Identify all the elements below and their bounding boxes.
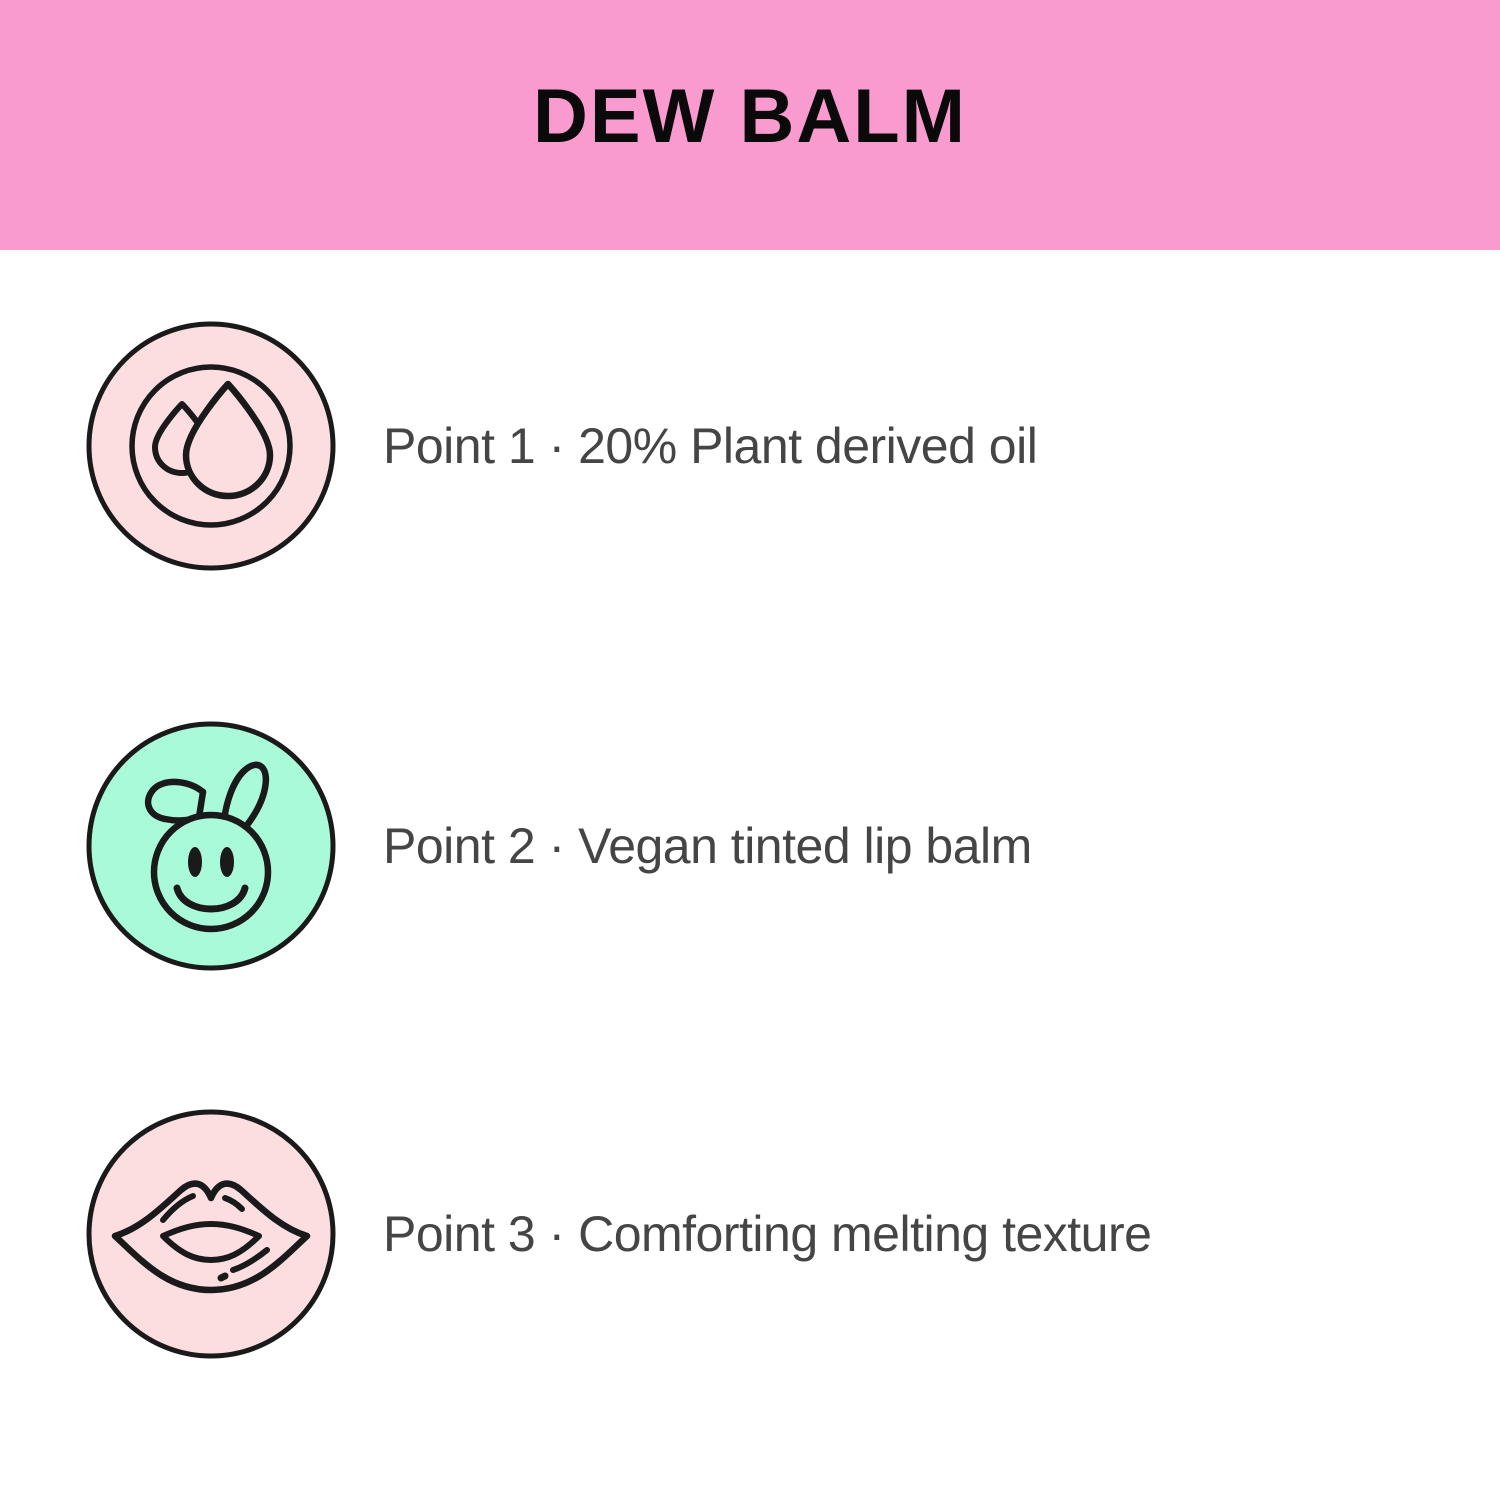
list-item-label: Point 3 · Comforting melting texture	[383, 1207, 1151, 1262]
list-item: Point 1 · 20% Plant derived oil	[0, 320, 1500, 572]
product-points-infographic: DEW BALM Point 1 · 20% Plant derived oil	[0, 0, 1500, 1500]
points-list: Point 1 · 20% Plant derived oil	[0, 250, 1500, 1500]
water-droplets-icon	[85, 320, 337, 572]
list-item: Point 3 · Comforting melting texture	[0, 1108, 1500, 1360]
list-item: Point 2 · Vegan tinted lip balm	[0, 720, 1500, 972]
header-band: DEW BALM	[0, 0, 1500, 250]
list-item-label: Point 1 · 20% Plant derived oil	[383, 419, 1037, 474]
list-item-label: Point 2 · Vegan tinted lip balm	[383, 819, 1032, 874]
bunny-smiley-icon	[85, 720, 337, 972]
page-title: DEW BALM	[533, 79, 967, 155]
lips-icon	[85, 1108, 337, 1360]
